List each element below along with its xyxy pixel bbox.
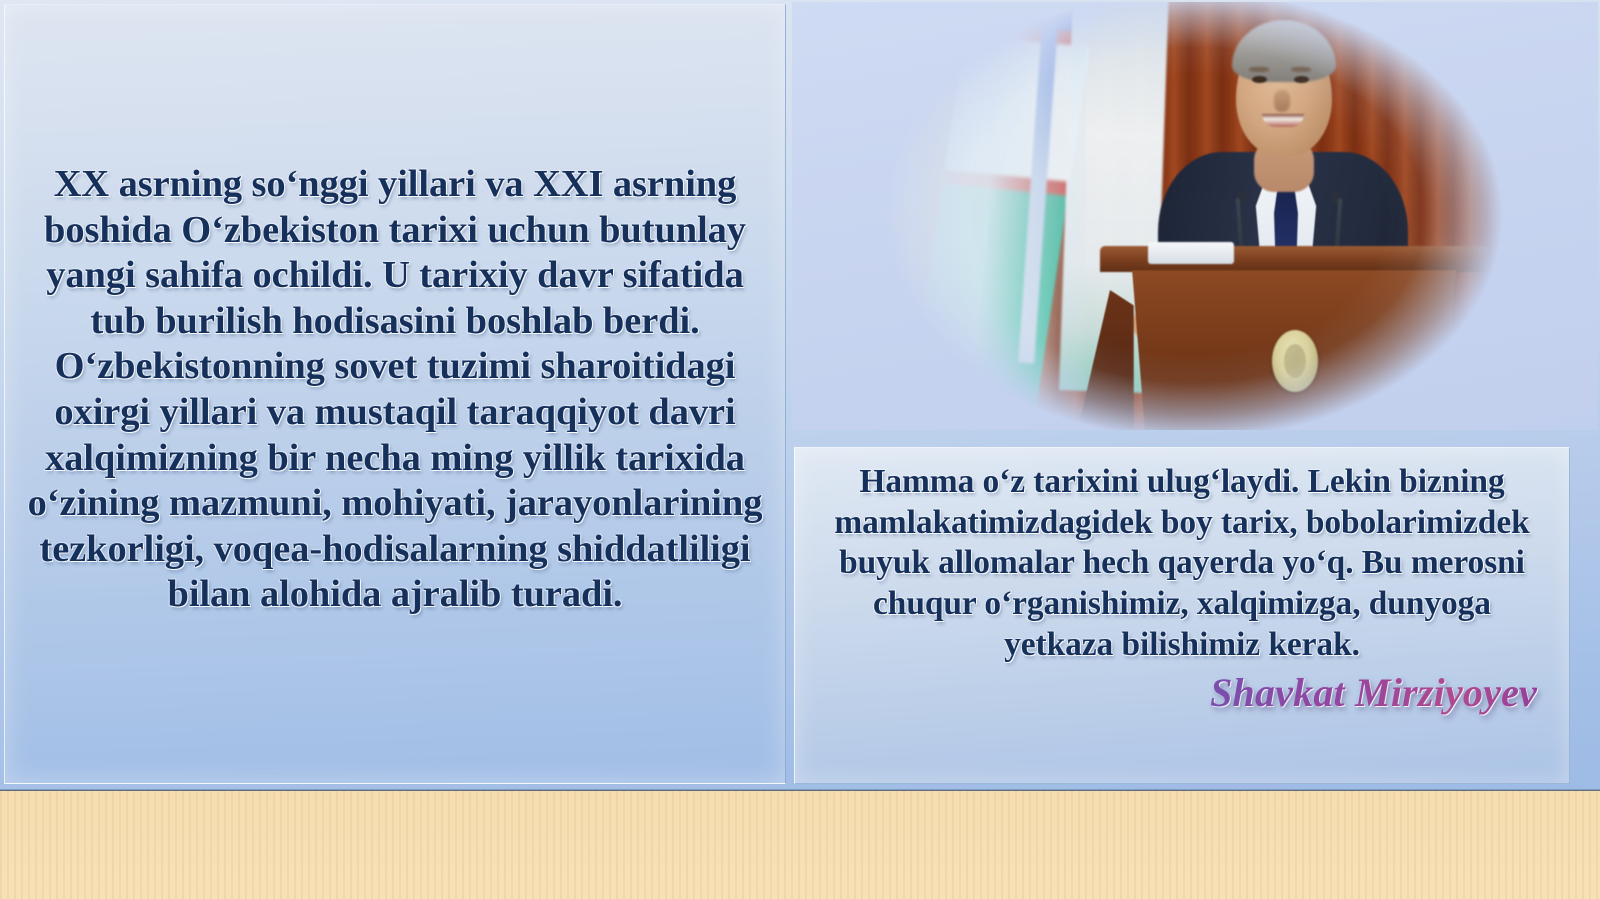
quote-box: Hamma o‘z tarixini ulug‘laydi. Lekin biz… [794,447,1570,784]
hair [1232,20,1336,82]
nose [1274,90,1290,112]
smiling-mouth [1262,114,1304,127]
photo-light-haze [860,2,1086,430]
left-text-panel: XX asrning so‘nggi yillari va XXI asrnin… [4,4,786,784]
national-emblem-icon [1272,330,1318,392]
president-photo [860,2,1526,430]
podium [1096,246,1492,430]
history-paragraph: XX asrning so‘nggi yillari va XXI asrnin… [19,162,771,618]
eye-right [1294,76,1309,83]
photo-region [792,2,1598,430]
slide-bottom-edge [0,789,1600,791]
presentation-slide: XX asrning so‘nggi yillari va XXI asrnin… [0,0,1600,791]
quote-author-signature: Shavkat Mirziyoyev [821,669,1543,716]
eyebrow-left [1249,67,1269,72]
podium-papers [1148,242,1234,264]
eyebrow-right [1291,67,1311,72]
eye-left [1252,76,1267,83]
quote-text: Hamma o‘z tarixini ulug‘laydi. Lekin biz… [821,462,1543,665]
